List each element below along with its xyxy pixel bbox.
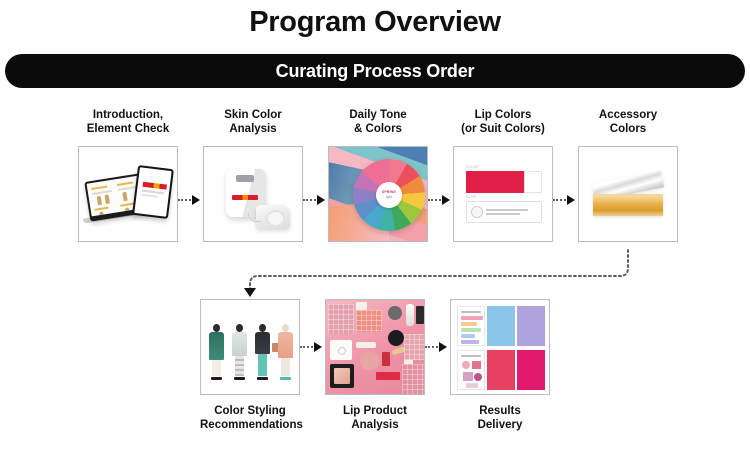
- color-wheel-illustration: SPRING light: [329, 147, 427, 241]
- swatch-caption-bottom: NOTE: [466, 195, 476, 199]
- figure-3: [255, 324, 270, 380]
- device-illustration: [204, 147, 302, 241]
- step-daily-tone-colors[interactable]: Daily Tone & Colors SPRING light: [328, 108, 428, 242]
- wrap-path: [250, 250, 628, 290]
- devices-illustration: [79, 147, 177, 241]
- step-label: Daily Tone & Colors: [328, 108, 428, 136]
- tablet-screen: [134, 167, 171, 217]
- palette-4: [404, 334, 425, 360]
- lip-swatch-illustration: COLOR NOTE: [454, 147, 552, 241]
- tile-accessory-metal-bands[interactable]: [578, 146, 678, 242]
- tile-results-report-cards[interactable]: [450, 299, 550, 395]
- report-card-purple: [517, 306, 545, 346]
- brand-logo-icon: [143, 182, 167, 190]
- tile-cosmetics-flat-lay[interactable]: [325, 299, 425, 395]
- tile-skin-analysis-device[interactable]: [203, 146, 303, 242]
- figure-2: [232, 324, 247, 380]
- tablet-icon: [132, 165, 174, 219]
- step-results-delivery[interactable]: Results Delivery: [450, 299, 550, 432]
- tile-lip-color-swatch[interactable]: COLOR NOTE: [453, 146, 553, 242]
- tile-devices-mockup[interactable]: [78, 146, 178, 242]
- report-card-blue: [487, 306, 515, 346]
- powder-compact: [388, 330, 404, 346]
- connector-step3-step4: [428, 195, 450, 205]
- report-card-chart: [457, 306, 485, 346]
- step-label: Lip Product Analysis: [325, 404, 425, 432]
- step-label: Introduction, Element Check: [78, 108, 178, 136]
- connector-step4-step5: [553, 195, 575, 205]
- blush-pan: [334, 368, 350, 384]
- connector-step2-step3: [303, 195, 325, 205]
- step-label: Color Styling Recommendations: [200, 404, 300, 432]
- wrap-arrowhead: [244, 288, 256, 297]
- report-card-shapes: [457, 350, 485, 390]
- report-card-crimson: [487, 350, 515, 390]
- figure-4: [278, 324, 293, 380]
- tile-color-wheel[interactable]: SPRING light: [328, 146, 428, 242]
- lip-tube: [356, 342, 376, 348]
- product-box: [356, 302, 367, 310]
- red-case-1: [376, 372, 400, 380]
- step-lip-product-analysis[interactable]: Lip Product Analysis: [325, 299, 425, 432]
- lipstick: [382, 352, 390, 366]
- report-card-magenta: [517, 350, 545, 390]
- wheel-tone-label: light: [386, 195, 392, 200]
- banner-label: Curating Process Order: [276, 61, 475, 82]
- step-label: Results Delivery: [450, 404, 550, 432]
- fashion-figures-illustration: [201, 300, 299, 394]
- report-cards-illustration: [451, 300, 549, 394]
- palette-2: [356, 310, 382, 332]
- step-accessory-colors[interactable]: Accessory Colors: [578, 108, 678, 242]
- tile-fashion-illustrations[interactable]: [200, 299, 300, 395]
- step-lip-colors[interactable]: Lip Colors (or Suit Colors) COLOR NOTE: [453, 108, 553, 242]
- note-lines: [486, 209, 528, 214]
- step-label: Accessory Colors: [578, 108, 678, 136]
- step-label: Skin Color Analysis: [203, 108, 303, 136]
- gold-band-icon: [593, 194, 663, 216]
- lip-color-swatch-light: [524, 171, 542, 193]
- wheel-center-label: SPRING light: [376, 182, 402, 208]
- figure-1: [209, 324, 224, 380]
- connector-step1-step2: [178, 195, 200, 205]
- page-title-text: Program Overview: [249, 6, 501, 39]
- compact-mirror: [388, 306, 402, 320]
- device-cord: [248, 213, 261, 222]
- step-color-styling-recommendations[interactable]: Color Styling Recommendations: [200, 299, 300, 432]
- step-introduction-element-check[interactable]: Introduction, Element Check: [78, 108, 178, 242]
- swatch-caption-top: COLOR: [466, 165, 479, 169]
- palette-1: [328, 304, 354, 334]
- step-label: Lip Colors (or Suit Colors): [453, 108, 553, 136]
- compact-logo: [338, 347, 346, 355]
- lip-color-swatch-icon: [466, 171, 524, 193]
- page-title: Program Overview: [0, 0, 750, 44]
- connector-step6-step7: [300, 342, 322, 352]
- cosmetics-flatlay-illustration: [326, 300, 424, 394]
- note-seal-icon: [471, 206, 483, 218]
- brand-logo-icon: [232, 195, 258, 200]
- step-skin-color-analysis[interactable]: Skin Color Analysis: [203, 108, 303, 242]
- palette-3: [402, 364, 425, 394]
- mascara: [416, 306, 424, 324]
- device-slot: [236, 175, 254, 182]
- tube: [406, 304, 414, 326]
- section-banner: Curating Process Order: [5, 54, 745, 88]
- blush-round: [360, 352, 380, 370]
- swatch-note-box: [466, 201, 542, 223]
- device-ring: [266, 210, 285, 227]
- connector-step7-step8: [425, 342, 447, 352]
- red-case-2: [376, 382, 400, 389]
- metal-bands-illustration: [579, 147, 677, 241]
